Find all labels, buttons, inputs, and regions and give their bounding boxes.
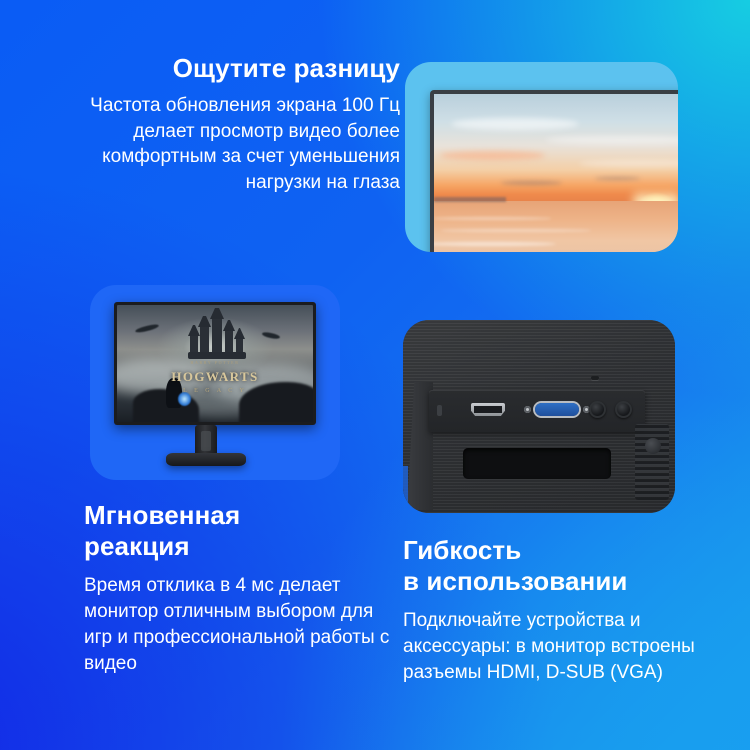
io-port-panel	[429, 390, 645, 432]
heading-feel-the-difference: Ощутите разницу	[30, 52, 400, 84]
castle-silhouette	[188, 317, 247, 357]
heading-flexibility-line2: в использовании	[403, 566, 703, 597]
blue-edge-highlight	[403, 466, 408, 504]
text-block-response-time: Мгновенная реакция Время отклика в 4 мс …	[84, 500, 394, 677]
cloud-shape	[579, 160, 678, 167]
castle-base	[188, 352, 247, 358]
wave-shape	[434, 242, 556, 246]
body-connectivity: Подключайте устройства и аксессуары: в м…	[403, 608, 703, 686]
card-rear-ports	[403, 320, 675, 513]
game-title: HOGWARTS	[117, 369, 313, 385]
sunset-screen-photo	[434, 94, 678, 252]
hdmi-port-icon	[471, 403, 505, 416]
hogwarts-screen-artwork: HARRY POTTER HOGWARTS L E G A C Y	[117, 305, 313, 422]
heading-instant-reaction-line2: реакция	[84, 531, 394, 562]
distant-land	[434, 197, 506, 202]
card-sunset-monitor	[405, 62, 678, 252]
audio-jack-icon	[589, 401, 606, 418]
game-pretitle: HARRY POTTER	[117, 360, 313, 365]
hogwarts-monitor-bezel: HARRY POTTER HOGWARTS L E G A C Y	[114, 302, 316, 425]
wave-shape	[434, 217, 551, 220]
power-led-icon	[591, 376, 599, 380]
castle-tower	[212, 319, 222, 356]
cloud-shape	[545, 136, 678, 145]
sunset-monitor-bezel	[430, 90, 678, 252]
card-hogwarts-monitor: HARRY POTTER HOGWARTS L E G A C Y	[90, 285, 340, 480]
infographic-canvas: HARRY POTTER HOGWARTS L E G A C Y	[0, 0, 750, 750]
vga-shell	[535, 403, 579, 416]
dark-cloud-shape	[595, 177, 639, 180]
monitor-stand-base	[166, 453, 246, 466]
text-block-connectivity: Гибкость в использовании Подключайте уст…	[403, 535, 703, 686]
cloud-shape	[440, 151, 546, 160]
text-block-refresh-rate: Ощутите разницу Частота обновления экран…	[30, 52, 400, 195]
heading-instant-reaction-line1: Мгновенная	[84, 500, 394, 531]
cloud-shape	[451, 118, 579, 130]
panel-screw-icon	[437, 405, 442, 416]
body-refresh-rate: Частота обновления экрана 100 Гц делает …	[30, 93, 400, 195]
heading-flexibility-line1: Гибкость	[403, 535, 703, 566]
dark-cloud-shape	[501, 181, 562, 185]
dragon-silhouette-icon	[262, 331, 280, 339]
game-subtitle: L E G A C Y	[117, 388, 313, 394]
dragon-silhouette-icon	[134, 323, 158, 333]
cable-knob-icon	[645, 438, 661, 454]
vga-port-icon	[535, 398, 579, 420]
wave-shape	[440, 229, 593, 232]
stand-cutout	[463, 448, 611, 479]
sea-surface	[434, 201, 678, 252]
vent-grille	[635, 424, 669, 500]
vga-screw-icon	[524, 406, 531, 413]
audio-jack-icon	[615, 401, 632, 418]
body-response-time: Время отклика в 4 мс делает монитор отли…	[84, 573, 394, 677]
